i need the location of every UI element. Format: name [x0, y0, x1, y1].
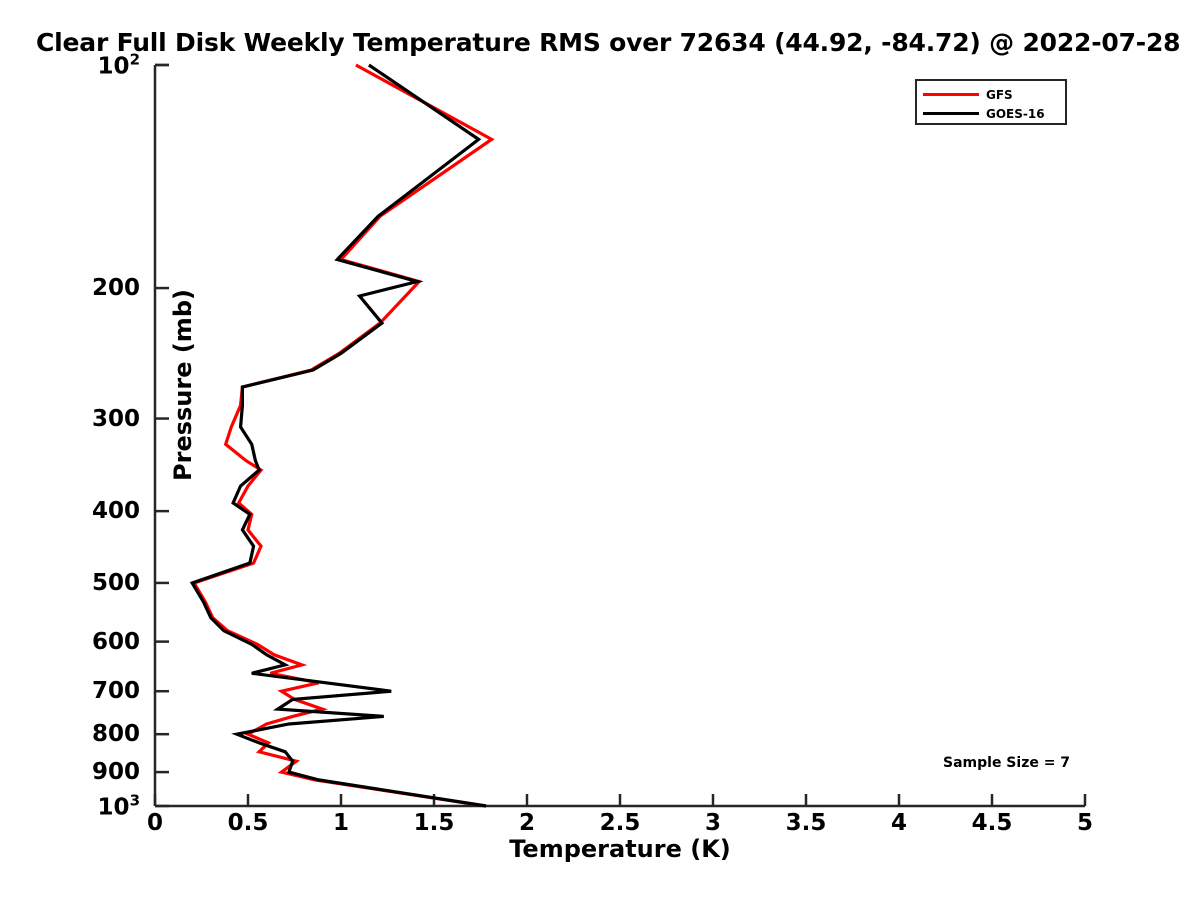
- legend-swatch-gfs: [923, 93, 979, 96]
- x-tick-label: 4.5: [972, 810, 1013, 836]
- x-tick-label: 2.5: [600, 810, 641, 836]
- axis-tick-marks: [155, 65, 1085, 806]
- x-axis-label: Temperature (K): [155, 835, 1085, 863]
- x-tick-label: 3.5: [786, 810, 827, 836]
- sample-size-annotation: Sample Size = 7: [943, 755, 1070, 771]
- x-tick-label: 4: [891, 810, 907, 836]
- y-tick-label: 103: [98, 792, 140, 821]
- y-tick-label: 400: [92, 498, 140, 524]
- y-tick-label: 200: [92, 275, 140, 301]
- legend-item-goes16: GOES-16: [923, 104, 1059, 123]
- x-tick-label: 3: [705, 810, 721, 836]
- legend-label-gfs: GFS: [986, 89, 1013, 101]
- y-tick-label: 102: [98, 51, 140, 80]
- x-tick-label: 5: [1077, 810, 1093, 836]
- data-series-goes-16: [192, 65, 486, 806]
- x-tick-label: 1: [333, 810, 349, 836]
- x-tick-label: 0: [147, 810, 163, 836]
- y-tick-label: 700: [92, 678, 140, 704]
- y-axis-label: Pressure (mb): [169, 255, 197, 515]
- x-tick-label: 1.5: [414, 810, 455, 836]
- legend-item-gfs: GFS: [923, 85, 1059, 104]
- y-tick-label: 300: [92, 406, 140, 432]
- legend-swatch-goes16: [923, 112, 979, 115]
- plot-axes: 00.511.522.533.544.55 102200300400500600…: [155, 65, 1085, 806]
- plot-figure: Clear Full Disk Weekly Temperature RMS o…: [0, 0, 1200, 900]
- plot-canvas: [155, 65, 1085, 806]
- y-tick-label: 600: [92, 629, 140, 655]
- y-tick-label: 900: [92, 759, 140, 785]
- page-title: Clear Full Disk Weekly Temperature RMS o…: [36, 28, 1200, 57]
- legend-label-goes16: GOES-16: [986, 108, 1045, 120]
- x-tick-label: 0.5: [228, 810, 269, 836]
- legend: GFS GOES-16: [915, 79, 1067, 125]
- axis-frame: [155, 65, 1085, 806]
- y-tick-label: 800: [92, 721, 140, 747]
- x-tick-label: 2: [519, 810, 535, 836]
- y-tick-label: 500: [92, 570, 140, 596]
- data-series-group: [192, 65, 491, 806]
